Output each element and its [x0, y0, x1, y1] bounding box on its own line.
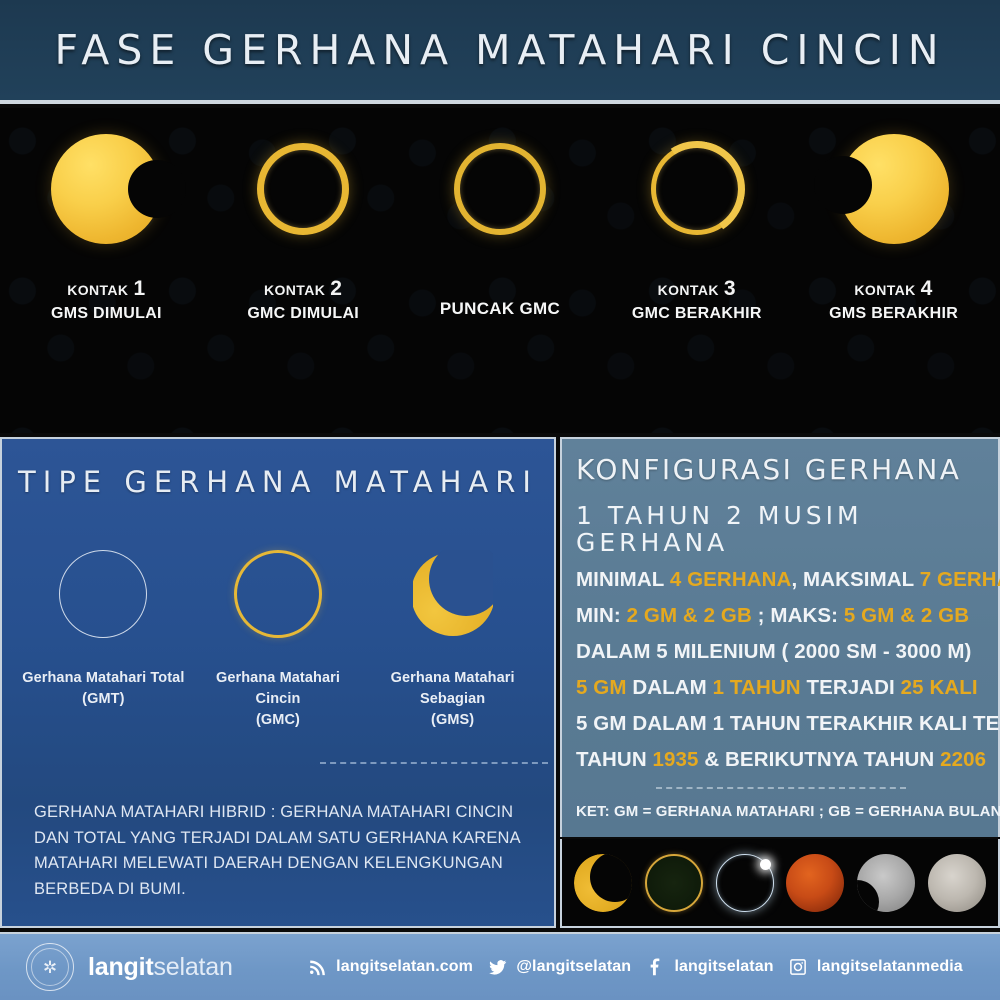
type-art-sebagian	[413, 541, 493, 646]
header-banner: FASE GERHANA MATAHARI CINCIN	[0, 0, 1000, 104]
config-l4-g2: 1 TAHUN	[713, 676, 801, 699]
types-panel-title: TIPE GERHANA MATAHARI	[2, 465, 554, 499]
annular-crescent-photo	[574, 854, 632, 912]
config-line-5gm-1tahun: 5 GM DALAM 1 TAHUN TERJADI 25 KALI	[576, 674, 986, 701]
brand-name-light: selatan	[153, 953, 232, 981]
sun-partial-end-icon	[839, 134, 949, 244]
phase-kontak-number-4: 3	[724, 278, 736, 299]
partial-eclipse-icon	[413, 550, 493, 638]
phase-desc-4: GMC BERAKHIR	[632, 306, 762, 322]
phase-desc-5: GMS BERAKHIR	[829, 306, 958, 322]
phase-art-1	[51, 114, 161, 264]
config-l1-b: , MAKSIMAL	[791, 568, 919, 591]
phase-art-4	[651, 114, 743, 264]
type-abbr-sebagian: (GMS)	[431, 712, 474, 728]
config-line-tahun-berikutnya: TAHUN 1935 & BERIKUTNYA TAHUN 2206	[576, 746, 986, 773]
phase-caption-1: KONTAK 1 GMS DIMULAI	[51, 278, 162, 322]
phase-caption-3: PUNCAK GMC	[440, 278, 560, 317]
phase-kontak-number-2: 2	[330, 278, 342, 299]
phase-art-2	[257, 114, 349, 264]
social-label-twitter: @langitselatan	[516, 958, 631, 976]
type-item-sebagian: Gerhana Matahari Sebagian (GMS)	[370, 541, 535, 731]
phase-art-5	[839, 114, 949, 264]
phase-kontak-label-1: KONTAK	[67, 283, 128, 297]
type-art-total	[59, 541, 147, 646]
annular-ring-end-icon	[651, 143, 743, 235]
config-l4-g1: 5 GM	[576, 676, 627, 699]
annular-ring-peak-icon	[454, 143, 546, 235]
social-label-instagram: langitselatanmedia	[817, 958, 963, 976]
config-l4-a: DALAM	[627, 676, 713, 699]
annular-ring-start-icon	[257, 143, 349, 235]
brand-block: ✲ langitselatan	[0, 943, 300, 991]
phase-item-2: KONTAK 2 GMC DIMULAI	[208, 108, 398, 322]
type-name-total: Gerhana Matahari Total	[22, 670, 184, 686]
page-title: FASE GERHANA MATAHARI CINCIN	[54, 26, 945, 74]
config-panel-divider	[656, 787, 906, 789]
social-link-website[interactable]: langitselatan.com	[307, 957, 473, 977]
type-label-cincin: Gerhana Matahari Cincin (GMC)	[195, 668, 360, 731]
total-eclipse-icon	[59, 550, 147, 638]
twitter-icon	[487, 957, 507, 977]
seal-glyph: ✲	[43, 959, 57, 976]
config-line-terakhir-kali: 5 GM DALAM 1 TAHUN TERAKHIR KALI TERJADI	[576, 710, 986, 737]
config-l5-a: TAHUN	[576, 748, 653, 771]
social-label-facebook: langitselatan	[674, 958, 773, 976]
config-l4-g3: 25 KALI	[901, 676, 978, 699]
social-link-facebook[interactable]: langitselatan	[645, 957, 773, 977]
config-l2-g2: 5 GM & 2 GB	[844, 604, 969, 627]
config-l1-a: MINIMAL	[576, 568, 670, 591]
phase-kontak-label-5: KONTAK	[854, 283, 915, 297]
config-line-milenium: DALAM 5 MILENIUM ( 2000 SM - 3000 M)	[576, 638, 986, 665]
config-l1-g2: 7 GERHANA	[920, 568, 1000, 591]
phase-kontak-label-4: KONTAK	[658, 283, 719, 297]
phase-item-1: KONTAK 1 GMS DIMULAI	[11, 108, 201, 322]
social-link-twitter[interactable]: @langitselatan	[487, 957, 631, 977]
hybrid-eclipse-note: GERHANA MATAHARI HIBRID : GERHANA MATAHA…	[34, 800, 534, 902]
annular-ring-photo	[645, 854, 703, 912]
instagram-icon	[788, 957, 808, 977]
phase-caption-5: KONTAK 4 GMS BERAKHIR	[829, 278, 958, 322]
blood-moon-photo	[786, 854, 844, 912]
config-l4-b: TERJADI	[801, 676, 901, 699]
brand-name-bold: langit	[88, 953, 153, 981]
config-l2-a: MIN:	[576, 604, 627, 627]
type-label-sebagian: Gerhana Matahari Sebagian (GMS)	[370, 668, 535, 731]
eclipse-configuration-panel: KONFIGURASI GERHANA 1 TAHUN 2 MUSIM GERH…	[560, 437, 1000, 837]
type-name-sebagian: Gerhana Matahari Sebagian	[391, 670, 515, 707]
config-l5-g1: 1935	[653, 748, 699, 771]
config-panel-title: KONFIGURASI GERHANA	[576, 455, 986, 486]
sun-partial-start-icon	[51, 134, 161, 244]
type-name-cincin: Gerhana Matahari Cincin	[216, 670, 340, 707]
partial-lunar-photo	[857, 854, 915, 912]
social-links: langitselatan.com @langitselatan langits…	[300, 957, 1000, 977]
phase-item-5: KONTAK 4 GMS BERAKHIR	[799, 108, 989, 322]
config-legend-note: KET: GM = GERHANA MATAHARI ; GB = GERHAN…	[576, 803, 986, 820]
type-item-total: Gerhana Matahari Total (GMT)	[21, 541, 186, 710]
type-item-cincin: Gerhana Matahari Cincin (GMC)	[195, 541, 360, 731]
social-label-website: langitselatan.com	[336, 958, 473, 976]
types-panel-divider	[320, 762, 548, 764]
phase-caption-4: KONTAK 3 GMC BERAKHIR	[632, 278, 762, 322]
rss-icon	[307, 957, 327, 977]
footer-bar: ✲ langitselatan langitselatan.com @langi…	[0, 932, 1000, 1000]
phase-caption-2: KONTAK 2 GMC DIMULAI	[247, 278, 359, 322]
config-line-minimal-maksimal: MINIMAL 4 GERHANA, MAKSIMAL 7 GERHANA	[576, 566, 986, 593]
total-solar-corona-photo	[716, 854, 774, 912]
phase-kontak-number-1: 1	[133, 278, 145, 299]
social-link-instagram[interactable]: langitselatanmedia	[788, 957, 963, 977]
infographic-page: FASE GERHANA MATAHARI CINCIN KONTAK 1 GM…	[0, 0, 1000, 1000]
eclipse-phases-section: KONTAK 1 GMS DIMULAI KONTAK 2 GMC DIMULA…	[0, 108, 1000, 433]
config-l2-g1: 2 GM & 2 GB	[627, 604, 752, 627]
facebook-icon	[645, 957, 665, 977]
phase-art-3	[454, 114, 546, 264]
config-l5-g2: 2206	[940, 748, 986, 771]
full-moon-photo	[928, 854, 986, 912]
type-abbr-total: (GMT)	[82, 691, 124, 707]
eclipse-photo-strip	[560, 839, 1000, 928]
phase-item-4: KONTAK 3 GMC BERAKHIR	[602, 108, 792, 322]
phase-desc-2: GMC DIMULAI	[247, 306, 359, 322]
langitselatan-seal-icon: ✲	[26, 943, 74, 991]
config-l1-g1: 4 GERHANA	[670, 568, 792, 591]
brand-wordmark: langitselatan	[88, 955, 233, 980]
config-l2-b: ; MAKS:	[752, 604, 844, 627]
config-l5-b: & BERIKUTNYA TAHUN	[699, 748, 941, 771]
phase-kontak-number-5: 4	[921, 278, 933, 299]
type-abbr-cincin: (GMC)	[256, 712, 300, 728]
config-line-min-maks: MIN: 2 GM & 2 GB ; MAKS: 5 GM & 2 GB	[576, 602, 986, 629]
phase-item-3: PUNCAK GMC	[405, 108, 595, 317]
type-label-total: Gerhana Matahari Total (GMT)	[22, 668, 184, 710]
config-subtitle: 1 TAHUN 2 MUSIM GERHANA	[576, 502, 986, 557]
phase-desc-1: GMS DIMULAI	[51, 306, 162, 322]
phase-desc-3: PUNCAK GMC	[440, 300, 560, 317]
annular-eclipse-icon	[234, 550, 322, 638]
type-art-cincin	[234, 541, 322, 646]
phase-kontak-label-2: KONTAK	[264, 283, 325, 297]
